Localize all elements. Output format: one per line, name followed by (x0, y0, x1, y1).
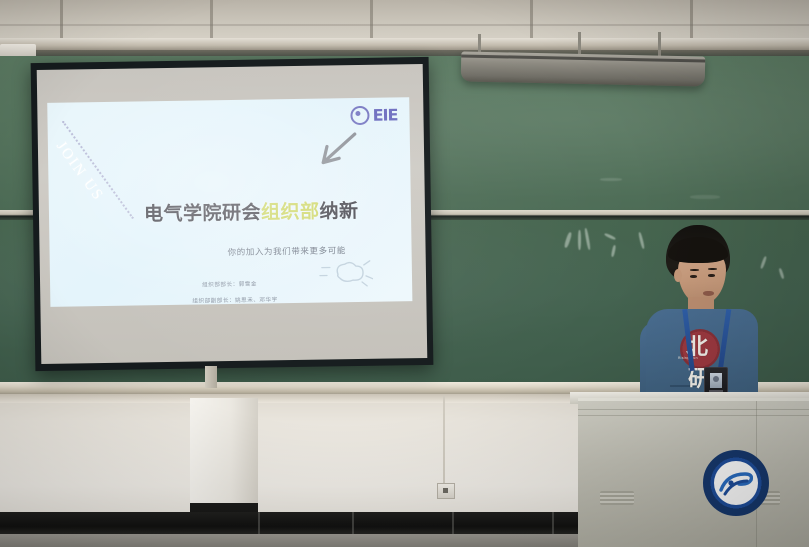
university-crest-icon (703, 450, 769, 516)
ceiling-beam (60, 0, 63, 40)
baseboard-seam (352, 512, 354, 536)
eyebrow-left (690, 269, 699, 271)
mouth (703, 291, 714, 296)
baseboard-seam (452, 512, 454, 536)
ceiling-beam (530, 0, 533, 40)
eye-left (690, 275, 697, 278)
slide-title-highlight: 组织部 (261, 201, 320, 224)
screen-surface: JOIN US EIE 电气学院研会组织部纳新 你的加入为我们带来更多可能 (37, 64, 428, 364)
presenter: 北 Rising Sun 研 究 (630, 225, 760, 415)
ceiling-beam (370, 0, 373, 40)
slide-title-prefix: 电气学院研会 (144, 202, 261, 226)
eye-right (708, 274, 715, 277)
logo-circle-icon (351, 106, 370, 125)
cloud-doodle-icon (318, 256, 373, 289)
podium (578, 398, 809, 547)
hanging-cable (443, 396, 445, 484)
ceiling-beam (210, 0, 213, 40)
projection-screen: JOIN US EIE 电气学院研会组织部纳新 你的加入为我们带来更多可能 (31, 57, 434, 371)
ceiling-beam (690, 0, 693, 40)
ceiling-rail (0, 38, 809, 50)
slide-title: 电气学院研会组织部纳新 (144, 196, 359, 226)
classroom-photo: JOIN US EIE 电气学院研会组织部纳新 你的加入为我们带来更多可能 (0, 0, 809, 547)
slide-subtitle: 你的加入为我们带来更多可能 (228, 244, 346, 258)
crest-swoosh-icon (719, 470, 753, 496)
baseboard-seam (258, 512, 260, 536)
light-support-rod (658, 32, 661, 58)
baseboard-seam (552, 512, 554, 536)
ear (674, 269, 682, 282)
badge-photo (710, 373, 722, 388)
wall-power-outlet[interactable] (437, 483, 455, 499)
eyebrow-right (708, 268, 717, 270)
slide-logo: EIE (351, 105, 398, 125)
podium-edge-line (578, 415, 809, 416)
chalk-smudge (600, 178, 622, 181)
ceiling-seam (0, 24, 809, 26)
slide-title-suffix: 纳新 (319, 200, 358, 223)
arrow-doodle-icon (313, 130, 360, 171)
logo-text: EIE (373, 105, 398, 124)
chalk-mark (578, 230, 581, 250)
chalk-smudge (690, 195, 720, 199)
podium-vent-left (600, 491, 634, 505)
slide-credit-line-1: 组织部部长：郭雪金 (202, 280, 257, 289)
slide-credit-line-2: 组织部副部长：姚思禾、邓华宇 (192, 295, 277, 304)
podium-edge-line (578, 409, 809, 410)
ceiling-light-tube (461, 51, 706, 86)
screen-support-leg (205, 366, 217, 388)
presentation-slide: JOIN US EIE 电气学院研会组织部纳新 你的加入为我们带来更多可能 (47, 97, 412, 307)
